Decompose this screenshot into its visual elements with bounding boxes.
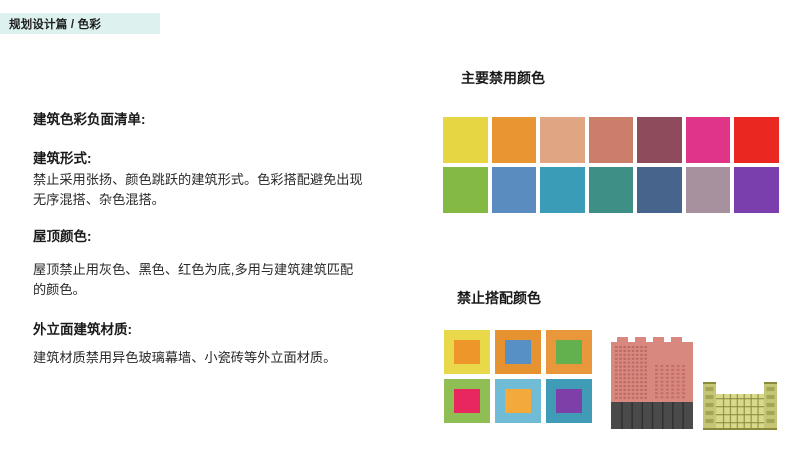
combo-swatch-yellow-orange	[444, 330, 490, 374]
color-swatch-magenta	[686, 117, 731, 163]
color-swatch-teal	[589, 167, 634, 213]
color-reference-panel: 主要禁用颜色 禁止搭配颜色	[443, 0, 783, 476]
section-heading-facade-material: 外立面建筑材质:	[33, 322, 363, 339]
combo-inner-green-crimson	[454, 389, 480, 414]
combo-swatch-lightblue-orange	[495, 379, 541, 423]
combo-inner-orange-blue	[505, 340, 531, 365]
page-title: 建筑色彩负面清单:	[33, 112, 363, 129]
color-swatch-yellow	[443, 117, 488, 163]
pink-tower-illustration	[611, 337, 693, 429]
section-heading-prohibited-colors: 主要禁用颜色	[461, 68, 545, 88]
combo-inner-teal-purple	[556, 389, 582, 414]
breadcrumb-band: 规划设计篇 / 色彩	[0, 13, 160, 34]
color-swatch-red	[734, 117, 779, 163]
yellow-slab-illustration	[701, 378, 779, 430]
color-swatch-purple	[734, 167, 779, 213]
section-heading-building-form: 建筑形式:	[33, 151, 363, 168]
section-body-roof-color: 屋顶禁止用灰色、黑色、红色为底,多用与建筑建筑匹配的颜色。	[33, 260, 363, 300]
section-heading-prohibited-combinations: 禁止搭配颜色	[457, 288, 541, 308]
color-swatch-mauve	[686, 167, 731, 213]
negative-list-panel: 建筑色彩负面清单: 建筑形式: 禁止采用张扬、颜色跳跃的建筑形式。色彩搭配避免出…	[33, 112, 363, 367]
color-swatch-slate-blue	[637, 167, 682, 213]
color-swatch-green	[443, 167, 488, 213]
color-swatch-cyan-blue	[540, 167, 585, 213]
color-swatch-maroon	[637, 117, 682, 163]
section-body-building-form: 禁止采用张扬、颜色跳跃的建筑形式。色彩搭配避免出现无序混搭、杂色混搭。	[33, 170, 363, 210]
combo-inner-lightblue-orange	[505, 389, 531, 414]
color-swatch-steel-blue	[492, 167, 537, 213]
color-swatch-terracotta	[589, 117, 634, 163]
prohibited-combination-grid	[444, 330, 592, 423]
combo-swatch-green-crimson	[444, 379, 490, 423]
color-swatch-orange	[492, 117, 537, 163]
section-body-facade-material: 建筑材质禁用异色玻璃幕墙、小瓷砖等外立面材质。	[33, 348, 363, 368]
color-swatch-peach	[540, 117, 585, 163]
combo-inner-yellow-orange	[454, 340, 480, 365]
combo-swatch-orange-green	[546, 330, 592, 374]
breadcrumb: 规划设计篇 / 色彩	[0, 16, 101, 32]
combo-swatch-orange-blue	[495, 330, 541, 374]
prohibited-color-grid	[443, 117, 779, 213]
combo-inner-orange-green	[556, 340, 582, 365]
section-heading-roof-color: 屋顶颜色:	[33, 229, 363, 246]
combo-swatch-teal-purple	[546, 379, 592, 423]
